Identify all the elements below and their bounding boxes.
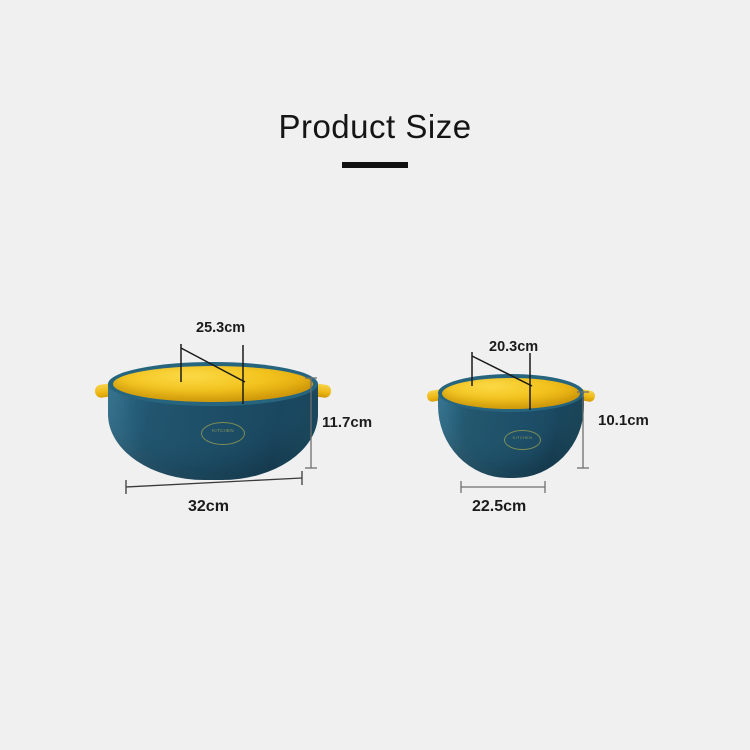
bowl-interior: [113, 366, 313, 402]
title-block: Product Size: [0, 108, 750, 168]
dimension-label-large-width: 32cm: [188, 498, 229, 516]
bowl-interior: [442, 378, 580, 409]
title-underline-rule: [342, 162, 408, 168]
brand-badge: KITCHEN: [504, 430, 541, 450]
brand-badge-label: KITCHEN: [202, 428, 244, 433]
dimension-rule-small-width: [461, 481, 545, 493]
product-image-large-basin: KITCHEN: [108, 362, 318, 484]
dimension-label-large-inner-diameter: 25.3cm: [196, 320, 245, 336]
dimension-label-small-width: 22.5cm: [472, 498, 526, 516]
dimension-label-small-inner-diameter: 20.3cm: [489, 339, 538, 355]
brand-badge: KITCHEN: [201, 422, 245, 445]
dimension-label-large-height: 11.7cm: [322, 414, 372, 431]
product-size-infographic: Product Size KITCHEN KITCHEN: [0, 0, 750, 750]
dimension-label-small-height: 10.1cm: [598, 412, 649, 429]
product-image-small-bowl: KITCHEN: [438, 374, 584, 478]
brand-badge-label: KITCHEN: [505, 435, 540, 440]
page-title: Product Size: [0, 108, 750, 146]
